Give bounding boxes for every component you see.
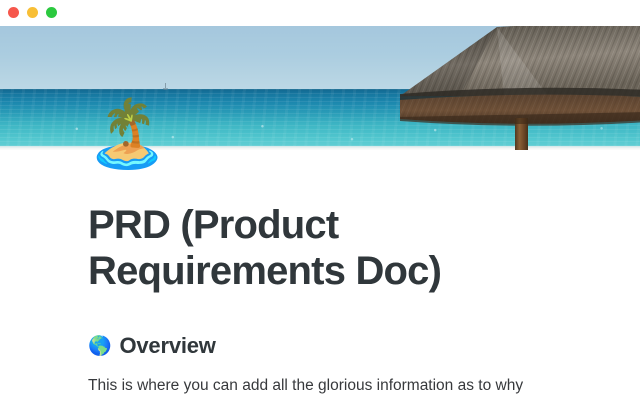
page-title[interactable]: PRD (Product Requirements Doc) <box>88 202 560 294</box>
sailboat-on-horizon <box>163 83 168 90</box>
document-body: PRD (Product Requirements Doc) 🌎 Overvie… <box>0 150 640 400</box>
app-window: 🏝️ PRD (Product Requirements Doc) 🌎 Over… <box>0 0 640 400</box>
page-icon-emoji[interactable]: 🏝️ <box>86 96 162 172</box>
minimize-window-button[interactable] <box>27 7 38 18</box>
palapa-umbrella <box>398 26 640 150</box>
globe-americas-icon: 🌎 <box>88 332 111 360</box>
document-content-column: PRD (Product Requirements Doc) 🌎 Overvie… <box>88 150 560 400</box>
overview-paragraph[interactable]: This is where you can add all the glorio… <box>88 374 550 400</box>
traffic-light-controls <box>8 7 57 18</box>
overview-heading-label: Overview <box>119 332 215 360</box>
window-titlebar <box>0 0 640 26</box>
maximize-window-button[interactable] <box>46 7 57 18</box>
close-window-button[interactable] <box>8 7 19 18</box>
overview-section-heading[interactable]: 🌎 Overview <box>88 332 560 360</box>
